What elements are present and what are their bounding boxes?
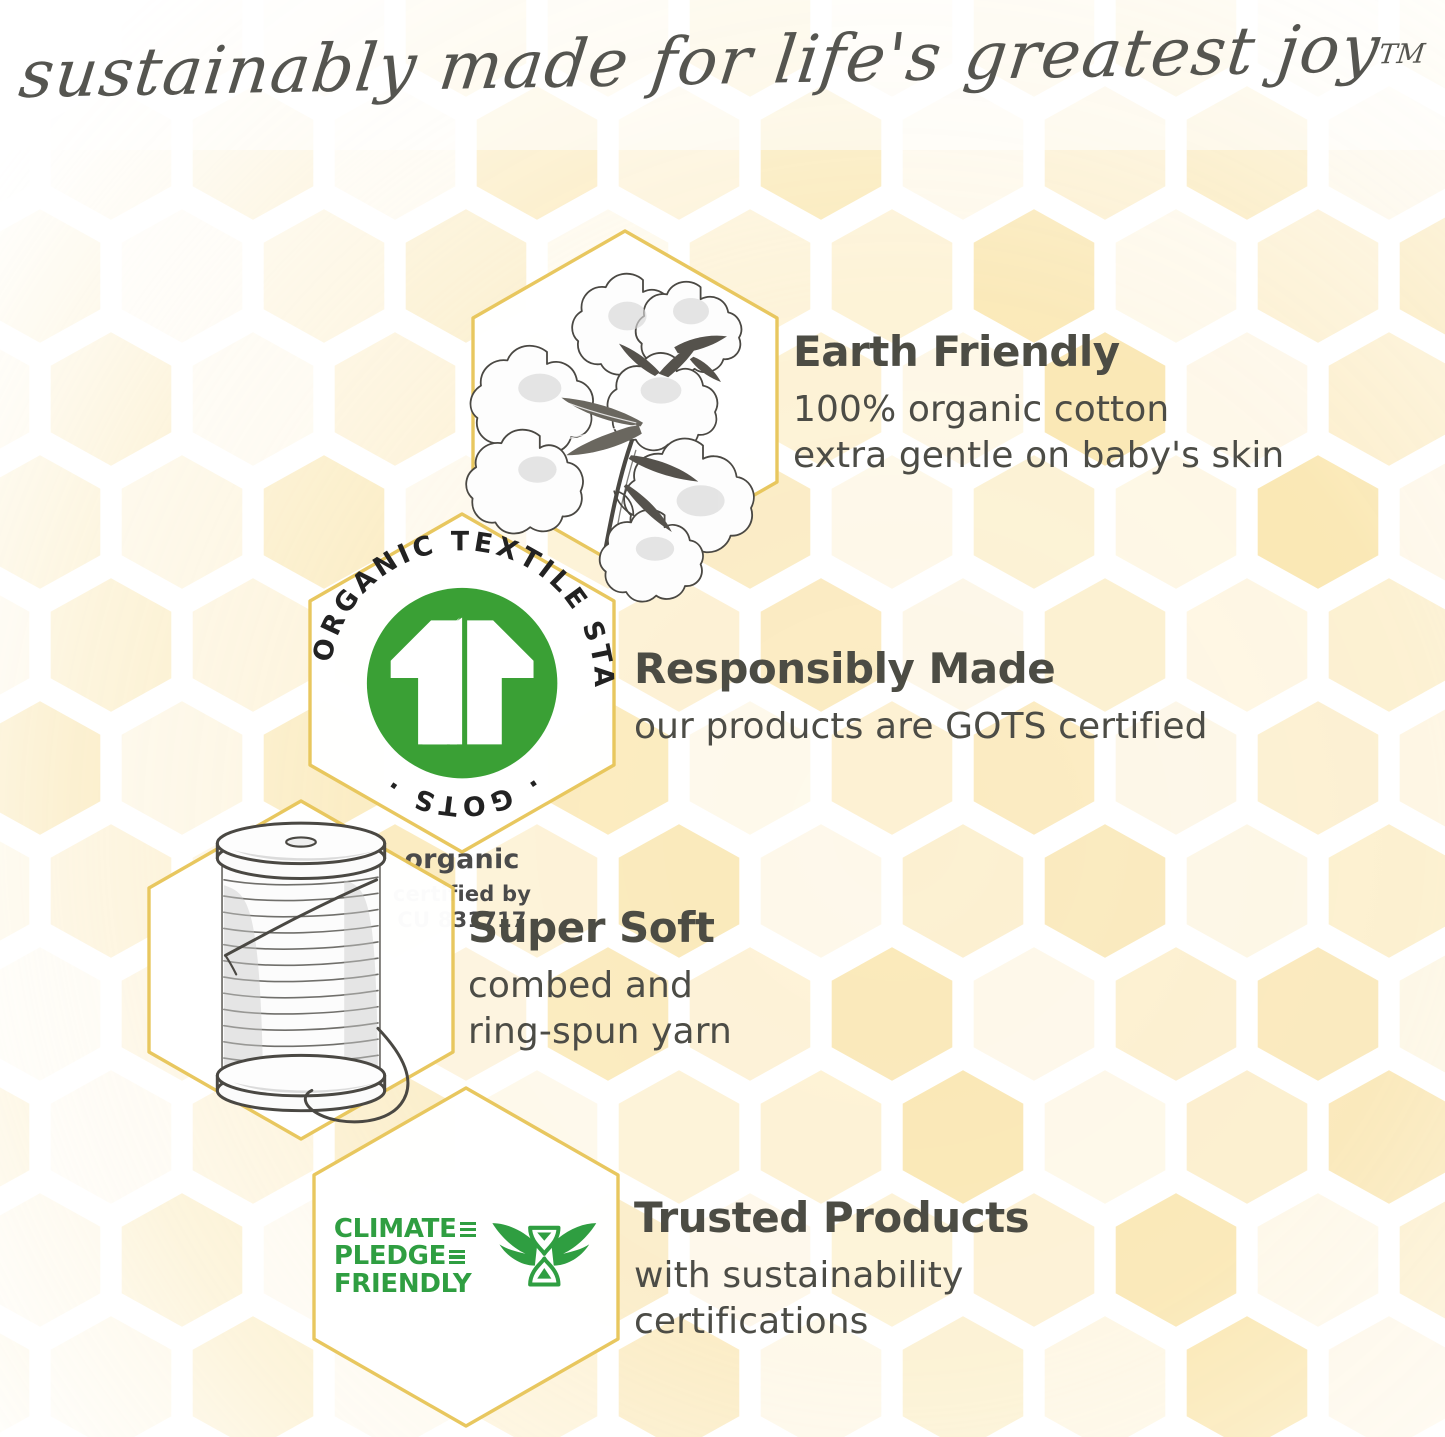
feature-title: Super Soft (468, 906, 732, 951)
honeycomb-cell (330, 327, 460, 471)
honeycomb-cell (0, 450, 105, 594)
honeycomb-cell (1040, 1311, 1170, 1437)
honeycomb-cell (0, 1065, 34, 1209)
honeycomb-cell (1395, 696, 1445, 840)
honeycomb-cell (1040, 1065, 1170, 1209)
honeycomb-cell (46, 573, 176, 717)
honeycomb-cell (1182, 1311, 1312, 1437)
honeycomb-cell (969, 942, 1099, 1086)
honeycomb-cell (188, 573, 318, 717)
climate-pledge-wordmark: CLIMATE PLEDGE FRIENDLY (334, 1216, 476, 1299)
honeycomb-cell (259, 204, 389, 348)
honeycomb-cell (1395, 204, 1445, 348)
honeycomb-cell (614, 1065, 744, 1209)
feature-text-responsibly-made: Responsibly Made our products are GOTS c… (634, 647, 1208, 750)
honeycomb-cell (0, 696, 105, 840)
honeycomb-cell (1395, 942, 1445, 1086)
honeycomb-cell (1040, 819, 1170, 963)
honeycomb-cell (1111, 1188, 1241, 1332)
honeycomb-cell (1253, 1188, 1383, 1332)
feature-line: with sustainability (634, 1253, 1029, 1300)
feature-line: our products are GOTS certified (634, 704, 1208, 751)
honeycomb-cell (117, 204, 247, 348)
honeycomb-cell (1111, 942, 1241, 1086)
tagline-text: sustainably made for life's greatest joy (16, 10, 1386, 113)
cpf-bars-icon (460, 1222, 476, 1237)
cpf-line-3: FRIENDLY (334, 1271, 472, 1299)
tagline: sustainably made for life's greatest joy… (0, 36, 1445, 113)
honeycomb-cell (0, 327, 34, 471)
honeycomb-cell (1253, 696, 1383, 840)
feature-text-trusted-products: Trusted Products with sustainability cer… (634, 1196, 1029, 1346)
sustainability-infographic: sustainably made for life's greatest joy… (0, 0, 1445, 1437)
honeycomb-cell (46, 1311, 176, 1437)
honeycomb-cell (1395, 450, 1445, 594)
honeycomb-cell (1182, 1065, 1312, 1209)
honeycomb-cell (0, 204, 105, 348)
feature-line: ring-spun yarn (468, 1009, 732, 1056)
honeycomb-cell (0, 1311, 34, 1437)
honeycomb-cell (1324, 327, 1445, 471)
honeycomb-cell (898, 819, 1028, 963)
honeycomb-cell (756, 819, 886, 963)
winged-hourglass-icon (490, 1216, 599, 1299)
honeycomb-cell (827, 942, 957, 1086)
honeycomb-cell (1111, 204, 1241, 348)
honeycomb-cell (188, 327, 318, 471)
climate-pledge-friendly-icon: CLIMATE PLEDGE FRIENDLY (334, 1216, 598, 1299)
honeycomb-cell (1395, 1188, 1445, 1332)
honeycomb-cell (1324, 819, 1445, 963)
feature-line: 100% organic cotton (793, 387, 1284, 434)
gots-seal-icon: GLOBAL ORGANIC TEXTILE STANDARD · GOTS · (307, 528, 617, 838)
honeycomb-cell (117, 450, 247, 594)
feature-title: Trusted Products (634, 1196, 1029, 1241)
honeycomb-cell (898, 1065, 1028, 1209)
honeycomb-cell (1324, 1311, 1445, 1437)
cpf-line-1: CLIMATE (334, 1216, 457, 1244)
honeycomb-cell (117, 1188, 247, 1332)
honeycomb-cell (188, 1311, 318, 1437)
honeycomb-cell (0, 1188, 105, 1332)
trademark-symbol: TM (1377, 39, 1427, 71)
cpf-line-2: PLEDGE (334, 1243, 446, 1271)
honeycomb-cell (0, 573, 34, 717)
honeycomb-cell (1253, 204, 1383, 348)
feature-line: combed and (468, 963, 732, 1010)
feature-text-super-soft: Super Soft combed and ring-spun yarn (468, 906, 732, 1056)
honeycomb-cell (0, 819, 34, 963)
honeycomb-cell (1324, 573, 1445, 717)
feature-hexagon-trusted-products: CLIMATE PLEDGE FRIENDLY (304, 1083, 628, 1431)
feature-line: certifications (634, 1299, 1029, 1346)
feature-text-earth-friendly: Earth Friendly 100% organic cotton extra… (793, 330, 1284, 480)
honeycomb-cell (1182, 819, 1312, 963)
honeycomb-cell (46, 327, 176, 471)
feature-title: Responsibly Made (634, 647, 1208, 692)
honeycomb-cell (1253, 942, 1383, 1086)
feature-title: Earth Friendly (793, 330, 1284, 375)
honeycomb-cell (0, 942, 105, 1086)
gots-certification-icon: GLOBAL ORGANIC TEXTILE STANDARD · GOTS ·… (307, 528, 617, 838)
honeycomb-cell (756, 1065, 886, 1209)
honeycomb-cell (1324, 1065, 1445, 1209)
cpf-bars-icon (449, 1250, 465, 1265)
feature-line: extra gentle on baby's skin (793, 433, 1284, 480)
